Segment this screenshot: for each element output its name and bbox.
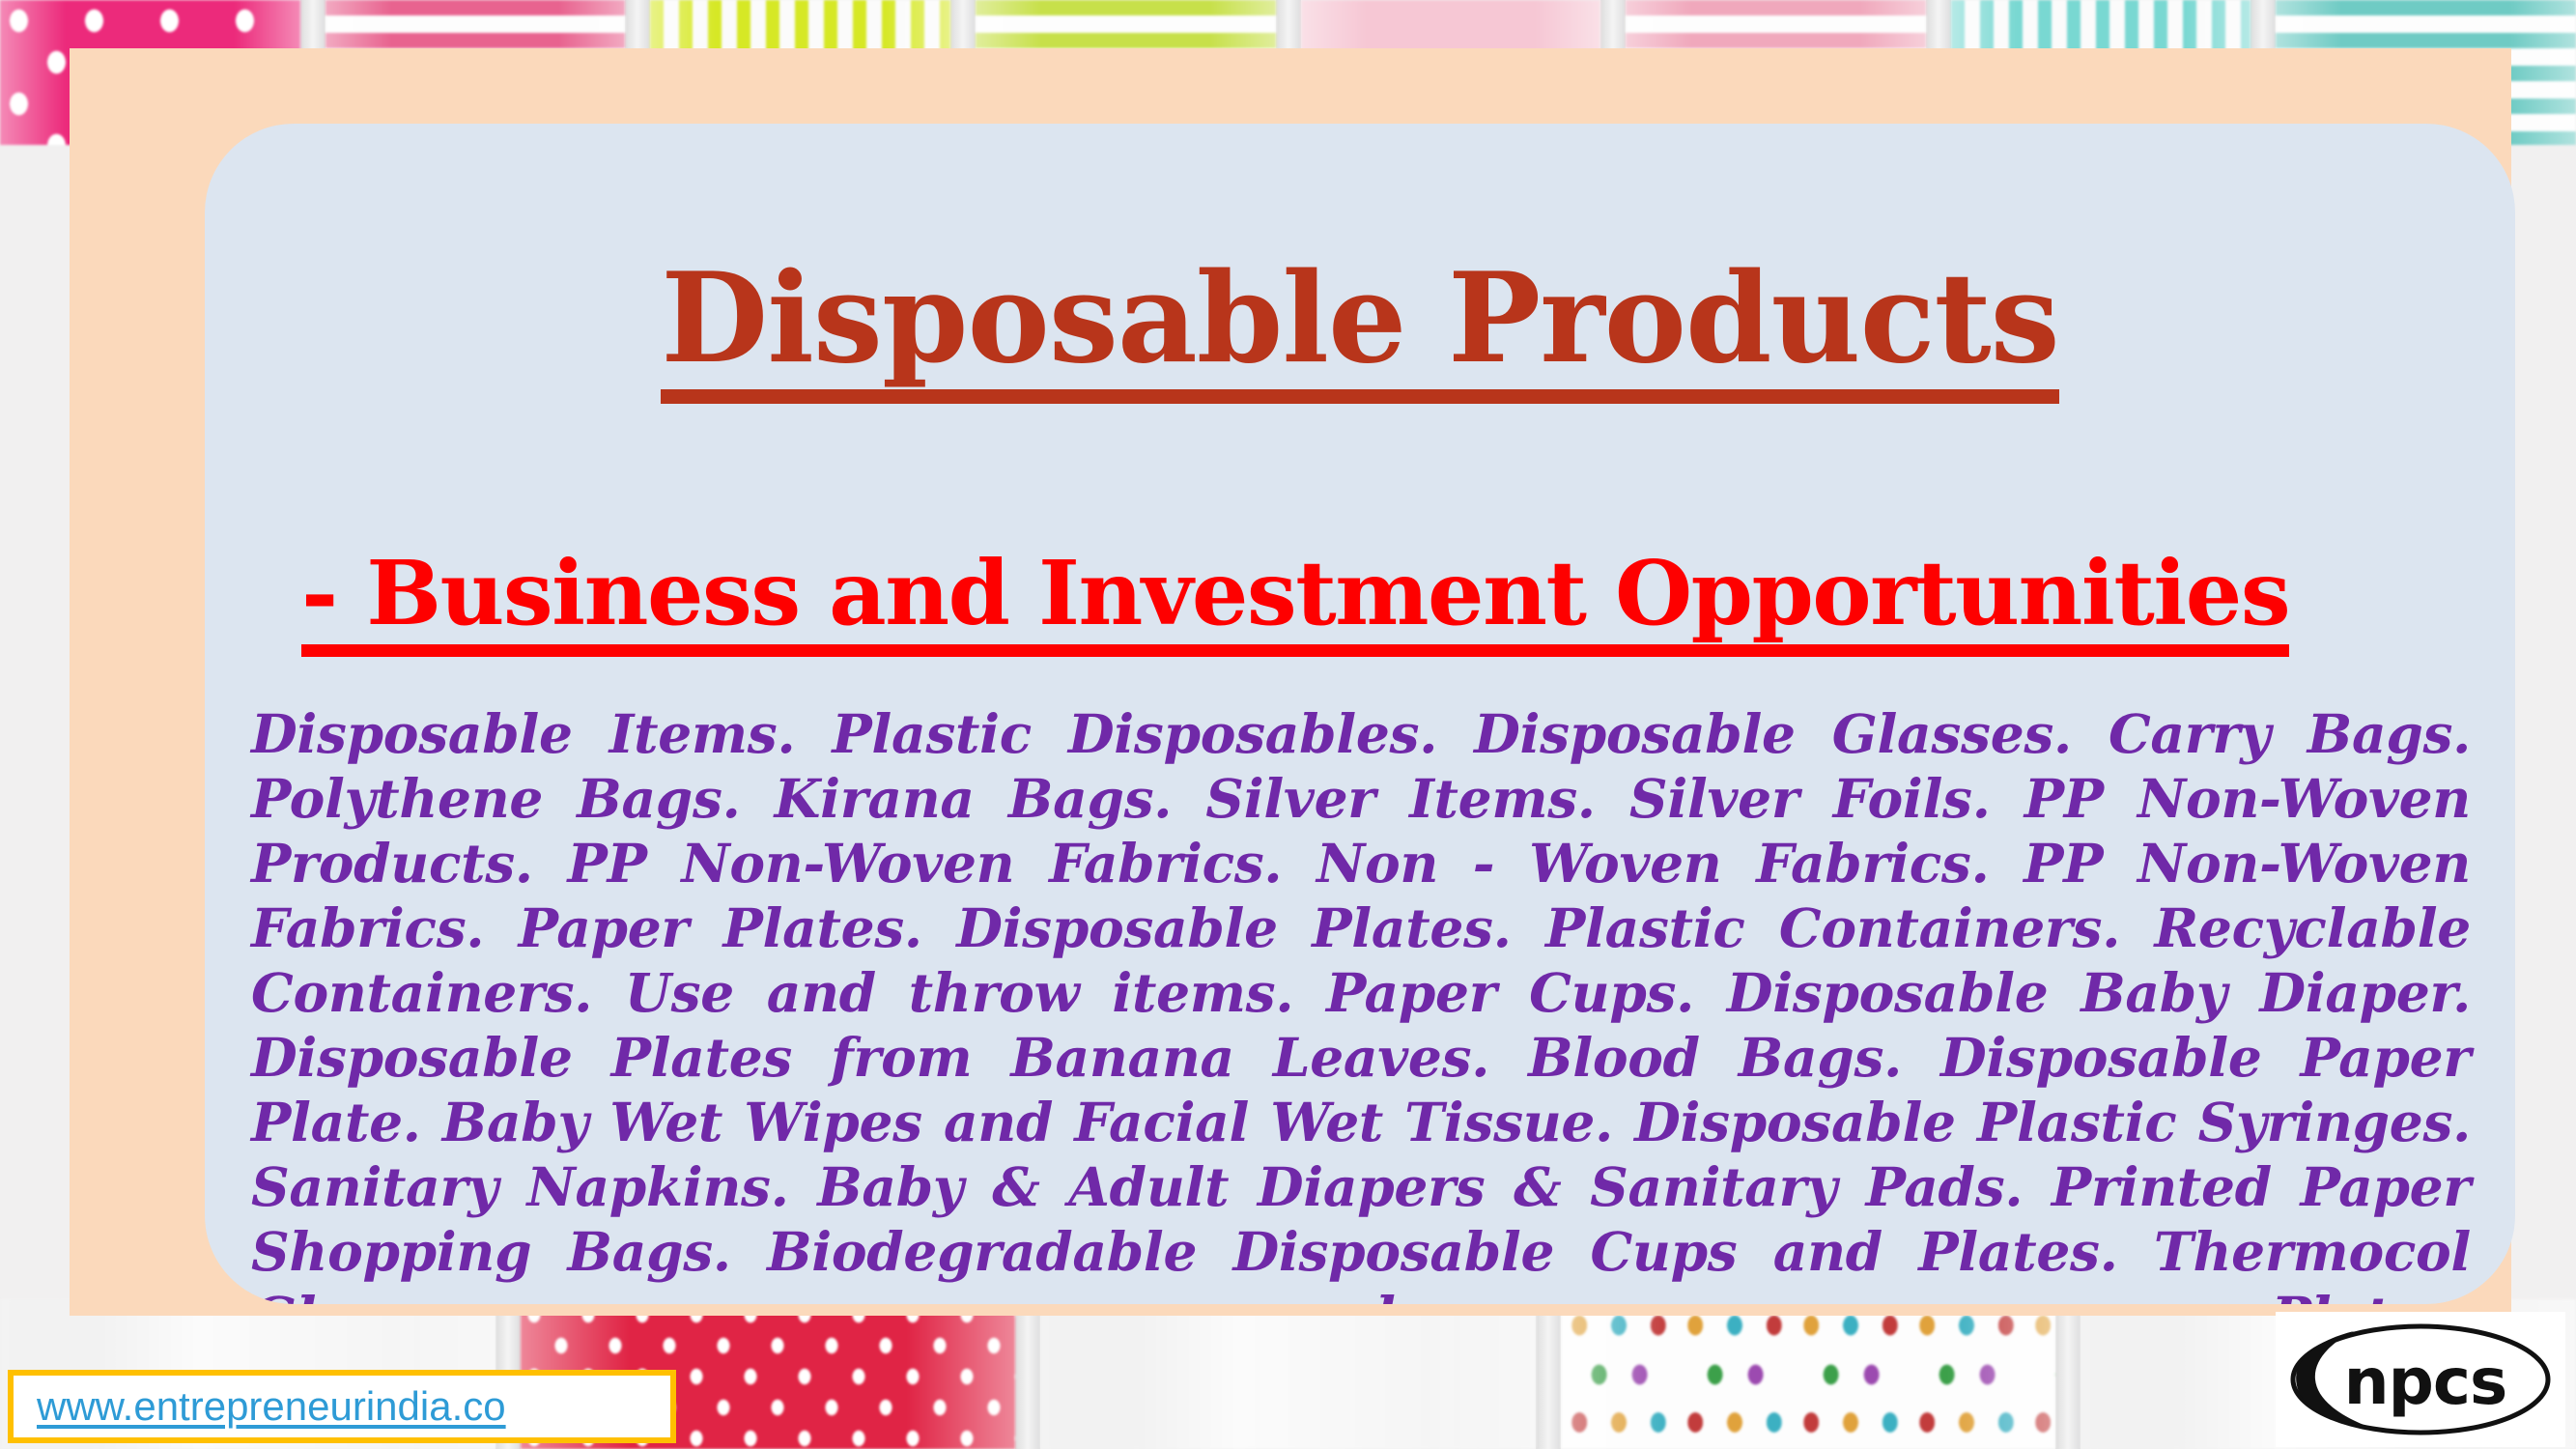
cup-divider [2055,1299,2081,1449]
website-url-link[interactable]: www.entrepreneurindia.co [37,1383,506,1430]
website-url-box[interactable]: www.entrepreneurindia.co [8,1370,676,1443]
npcs-logo: npcs [2276,1312,2565,1447]
slide-subtitle: - Business and Investment Opportunities [301,547,2448,657]
outer-peach-card: Disposable Products - Business and Inves… [70,48,2511,1316]
slide-title: Disposable Products [205,254,2515,404]
inner-content-panel: Disposable Products - Business and Inves… [205,124,2515,1304]
plain-white-cup-2 [1040,1299,1536,1449]
slide-canvas: Disposable Products - Business and Inves… [0,0,2576,1449]
slide-subtitle-text: - Business and Investment Opportunities [301,547,2289,657]
product-list-paragraph: Disposable Items. Plastic Disposables. D… [251,701,2471,1304]
cup-divider [1015,1299,1040,1449]
multicolor-polka-dot-cup [1561,1299,2056,1449]
svg-text:npcs: npcs [2344,1345,2507,1419]
cup-divider [1536,1299,1561,1449]
slide-title-text: Disposable Products [661,254,2058,404]
